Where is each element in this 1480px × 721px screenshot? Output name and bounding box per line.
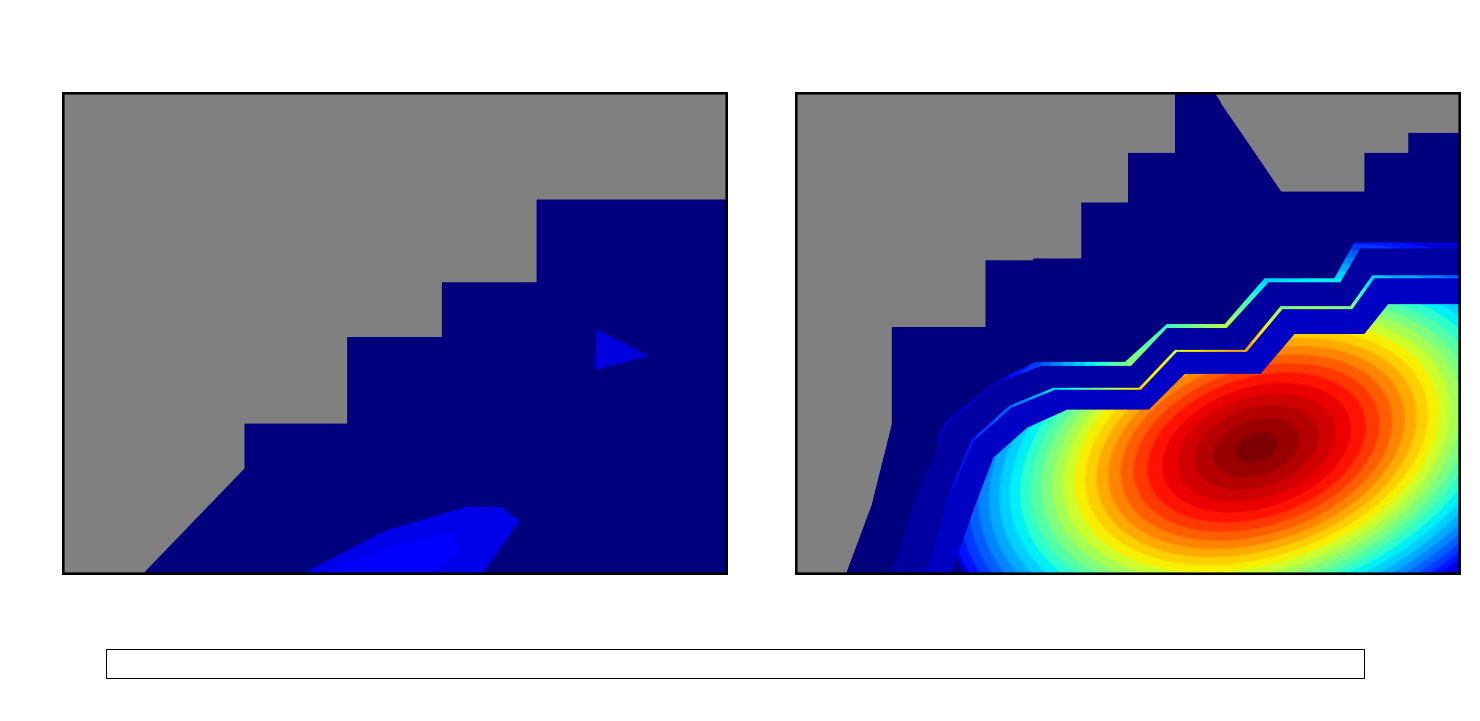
- colorbar-gradient: [107, 650, 1364, 678]
- figure-root: [0, 0, 1480, 721]
- contour-model: [63, 93, 727, 574]
- plot-area-en4obs[interactable]: [795, 92, 1461, 575]
- plot-area-model[interactable]: [62, 92, 728, 575]
- contour-en4obs: [796, 93, 1460, 574]
- colorbar[interactable]: [106, 649, 1365, 679]
